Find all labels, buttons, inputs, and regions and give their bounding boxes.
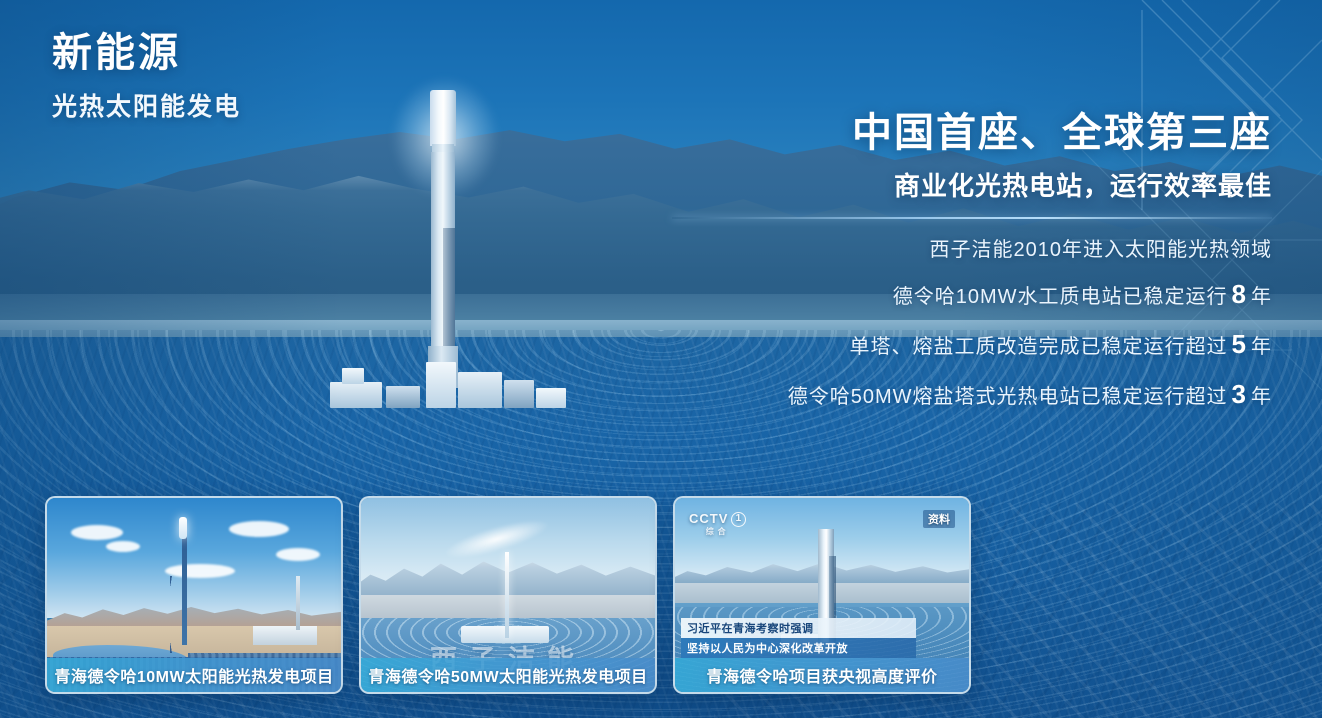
- cctv-channel-logo-icon: CCTV 1 综合: [689, 512, 746, 537]
- card-caption: 青海德令哈50MW太阳能光热发电项目: [361, 658, 655, 692]
- fact-text: 单塔、熔盐工质改造完成已稳定运行超过: [850, 336, 1228, 358]
- fact-number: 8: [1228, 279, 1251, 309]
- headline-sub: 商业化光热电站，运行效率最佳: [672, 166, 1272, 203]
- headline-main: 中国首座、全球第三座: [672, 108, 1272, 158]
- project-card-cctv[interactable]: CCTV 1 综合 资料 习近平在青海考察时强调 坚持以人民为中心深化改革开放 …: [673, 496, 971, 694]
- tower-shadow: [443, 228, 455, 358]
- fact-unit: 年: [1251, 336, 1272, 358]
- plant-building: [342, 368, 364, 384]
- plant-building: [330, 382, 382, 408]
- fact-number: 3: [1228, 379, 1251, 409]
- cloud: [106, 541, 140, 552]
- facts-list: 西子洁能2010年进入太阳能光热领域 德令哈10MW水工质电站已稳定运行8年 单…: [672, 231, 1272, 419]
- plant-building: [458, 372, 502, 408]
- project-card-50mw[interactable]: 西子洁能 青海德令哈50MW太阳能光热发电项目: [359, 496, 657, 694]
- project-cards: 青海德令哈10MW太阳能光热发电项目 西子洁能 青海德令哈50MW太阳能光热发电…: [45, 496, 971, 694]
- fact-text: 德令哈10MW水工质电站已稳定运行: [893, 286, 1228, 308]
- headline-block: 中国首座、全球第三座 商业化光热电站，运行效率最佳 西子洁能2010年进入太阳能…: [672, 108, 1272, 420]
- plant-building: [426, 362, 456, 408]
- cctv-wordmark: CCTV: [689, 512, 728, 526]
- fact-text: 西子洁能2010年进入太阳能光热领域: [930, 239, 1273, 261]
- chyron-line-2: 坚持以人民为中心深化改革开放: [681, 638, 916, 658]
- cctv-channel-number: 1: [731, 512, 746, 527]
- list-item: 德令哈50MW熔盐塔式光热电站已稳定运行超过3年: [672, 370, 1272, 420]
- project-card-10mw[interactable]: 青海德令哈10MW太阳能光热发电项目: [45, 496, 343, 694]
- power-plant-buildings: [330, 356, 570, 414]
- plant-building: [386, 386, 420, 408]
- page-subtitle: 光热太阳能发电: [52, 87, 241, 123]
- card-caption: 青海德令哈项目获央视高度评价: [675, 658, 969, 692]
- card-tower-truss: [170, 576, 205, 654]
- slide-root: 新能源 光热太阳能发电 中国首座、全球第三座 商业化光热电站，运行效率最佳 西子…: [0, 0, 1322, 718]
- cctv-channel-name: 综合: [706, 528, 730, 537]
- page-title-block: 新能源 光热太阳能发电: [52, 30, 241, 123]
- page-title: 新能源: [52, 30, 241, 77]
- card-tower-receiver: [179, 517, 187, 539]
- card-tower: [505, 552, 509, 637]
- plant-building: [536, 388, 566, 408]
- list-item: 单塔、熔盐工质改造完成已稳定运行超过5年: [672, 320, 1272, 370]
- fact-unit: 年: [1251, 386, 1272, 408]
- card-tower-secondary: [296, 576, 300, 630]
- fact-text: 德令哈50MW熔盐塔式光热电站已稳定运行超过: [788, 386, 1228, 408]
- cctv-logo-row: CCTV 1: [689, 512, 746, 527]
- chyron-line-1: 习近平在青海考察时强调: [681, 618, 916, 638]
- status-badge: 资料: [923, 510, 955, 528]
- cloud: [71, 525, 123, 540]
- tower-receiver: [430, 90, 456, 146]
- plant-building: [504, 380, 534, 408]
- fact-number: 5: [1228, 329, 1251, 359]
- list-item: 德令哈10MW水工质电站已稳定运行8年: [672, 270, 1272, 320]
- news-chyron: 习近平在青海考察时强调 坚持以人民为中心深化改革开放: [681, 618, 916, 658]
- list-item: 西子洁能2010年进入太阳能光热领域: [672, 231, 1272, 269]
- headline-divider: [672, 217, 1272, 219]
- fact-unit: 年: [1251, 286, 1272, 308]
- card-caption: 青海德令哈10MW太阳能光热发电项目: [47, 658, 341, 692]
- card-plant: [253, 626, 318, 645]
